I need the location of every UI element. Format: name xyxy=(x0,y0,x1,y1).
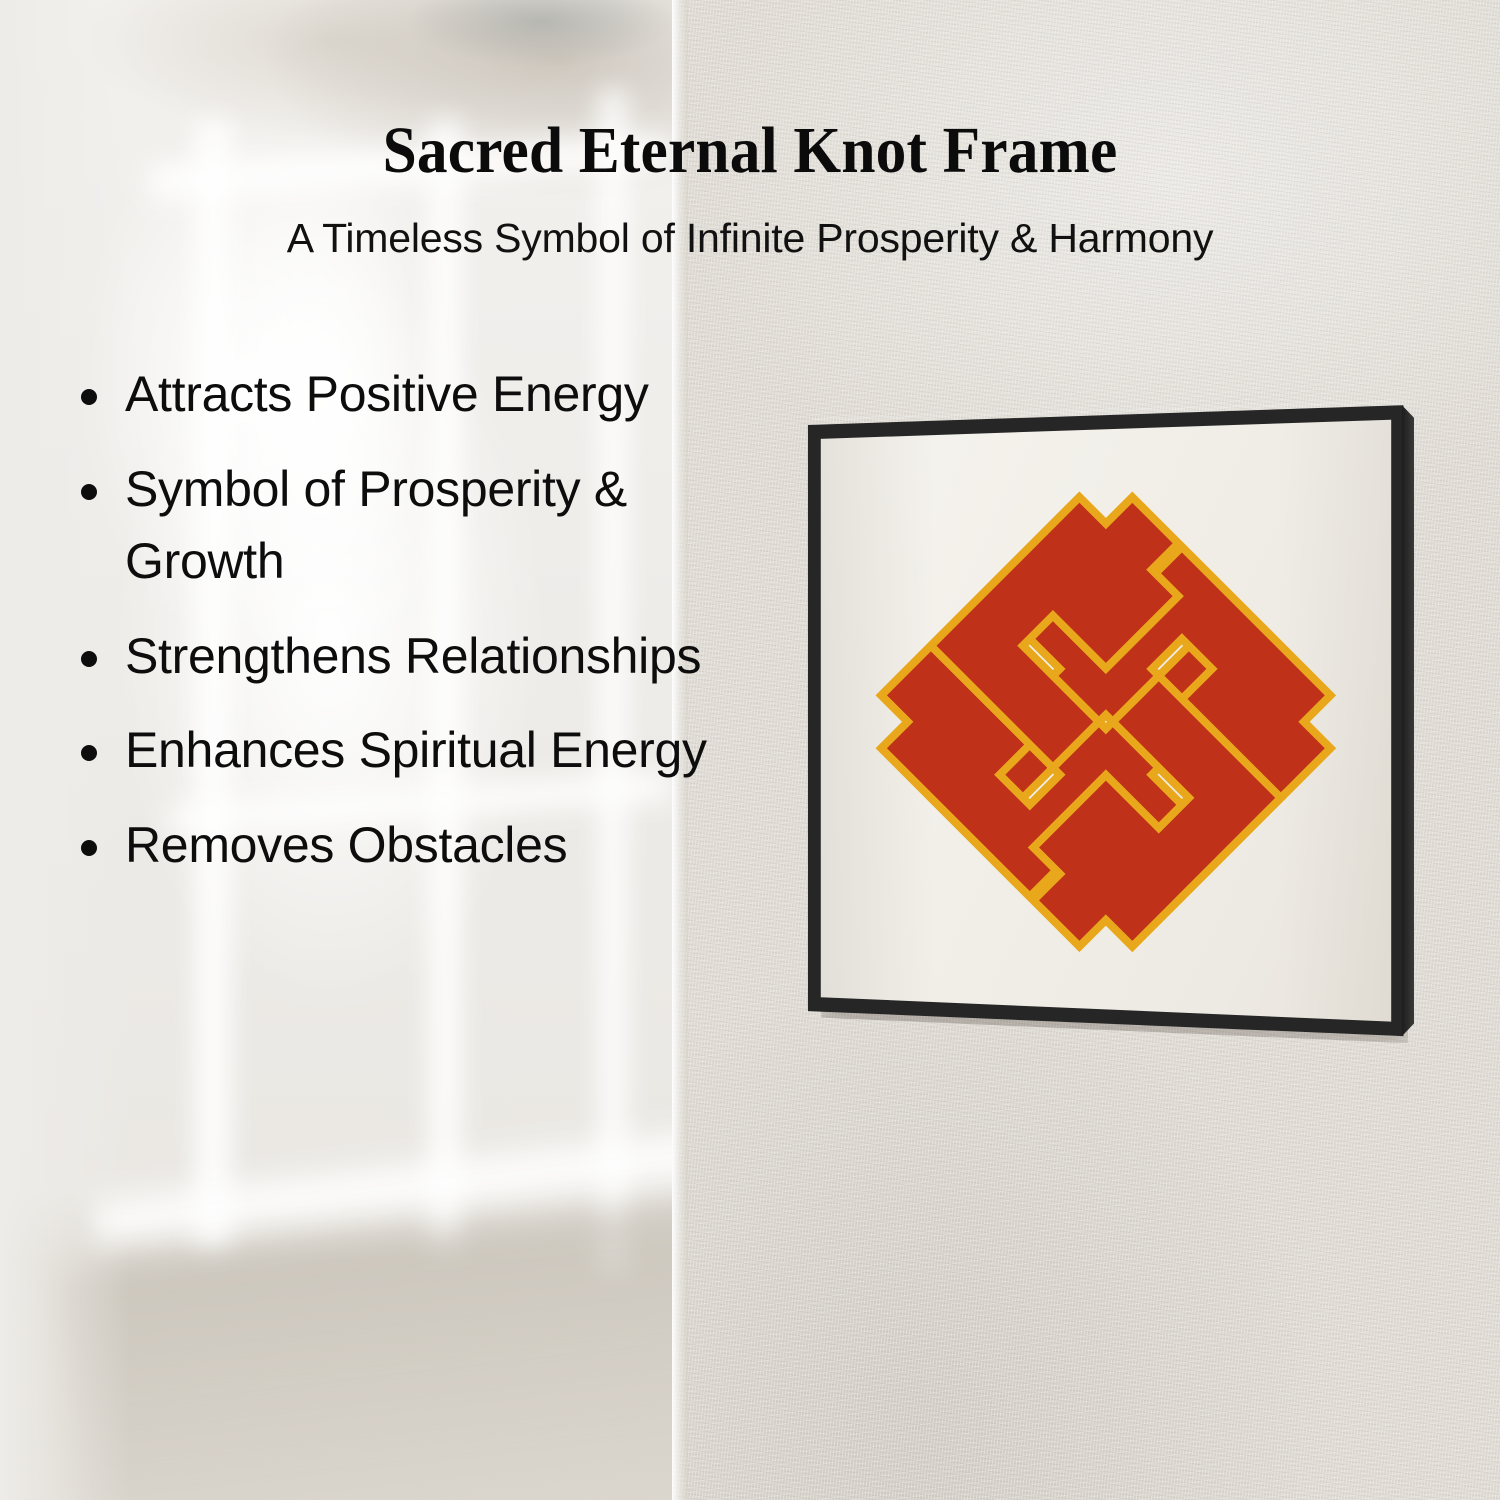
bullet-dot-icon xyxy=(81,745,97,761)
bullet-dot-icon xyxy=(81,484,97,500)
page-subtitle: A Timeless Symbol of Infinite Prosperity… xyxy=(0,216,1500,261)
list-item-label: Strengthens Relationships xyxy=(125,628,701,684)
endless-knot-artwork xyxy=(821,421,1391,1023)
list-item-label: Attracts Positive Energy xyxy=(125,366,649,422)
list-item: Removes Obstacles xyxy=(72,809,762,882)
list-item-label: Enhances Spiritual Energy xyxy=(125,722,707,778)
frame-side-depth xyxy=(1402,405,1414,1036)
bullet-dot-icon xyxy=(81,840,97,856)
list-item: Symbol of Prosperity & Growth xyxy=(72,453,762,598)
benefits-list: Attracts Positive Energy Symbol of Prosp… xyxy=(72,358,762,903)
page-title: Sacred Eternal Knot Frame xyxy=(53,118,1448,184)
list-item-label: Removes Obstacles xyxy=(125,817,567,873)
list-item: Enhances Spiritual Energy xyxy=(72,714,762,787)
list-item-label: Symbol of Prosperity & Growth xyxy=(125,461,627,590)
list-item: Attracts Positive Energy xyxy=(72,358,762,431)
bullet-dot-icon xyxy=(81,389,97,405)
endless-knot-icon xyxy=(872,475,1340,969)
list-item: Strengthens Relationships xyxy=(72,620,762,693)
poster-canvas: Sacred Eternal Knot Frame A Timeless Sym… xyxy=(0,0,1500,1500)
framed-artwork xyxy=(800,392,1412,1052)
bullet-dot-icon xyxy=(81,651,97,667)
